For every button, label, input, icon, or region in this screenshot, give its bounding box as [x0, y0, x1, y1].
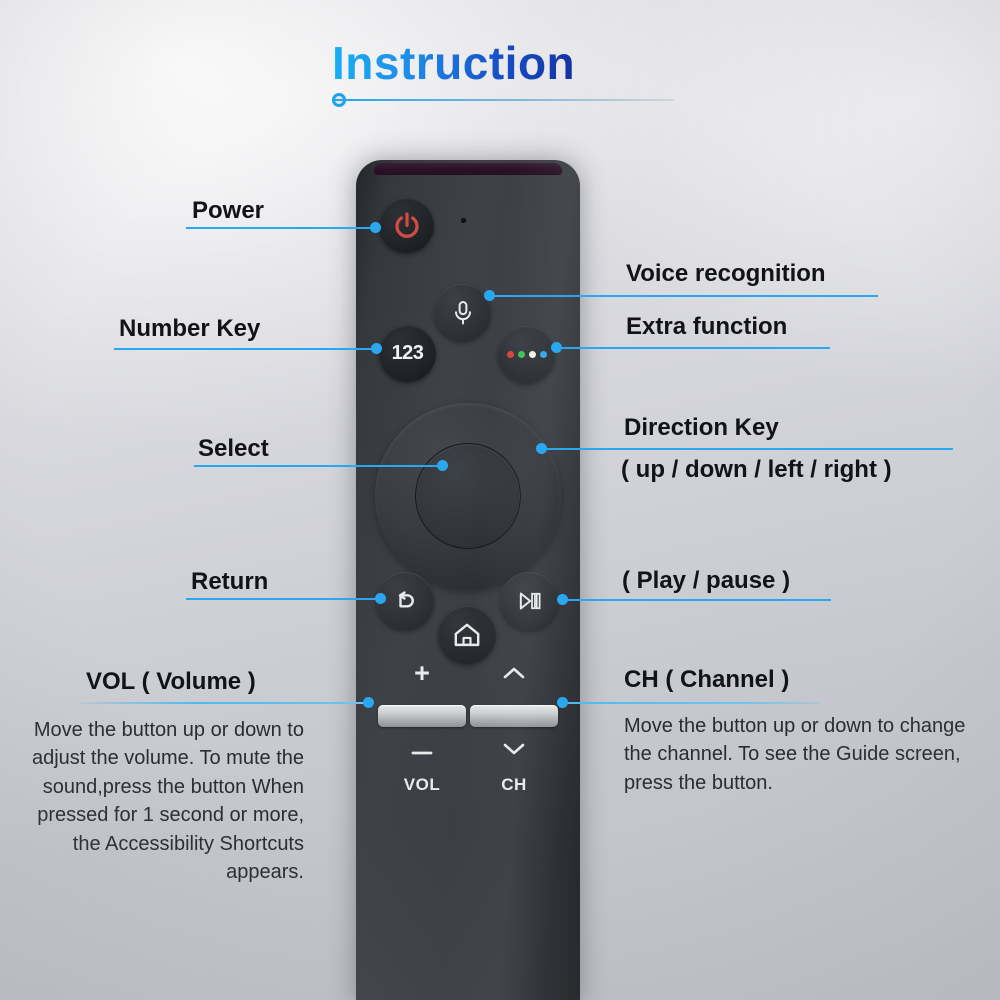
color-dots-icon	[507, 351, 547, 358]
callout-extra-function-dot	[551, 342, 562, 353]
power-icon	[392, 211, 422, 241]
channel-section-rule	[562, 702, 820, 704]
page-title: Instruction	[332, 36, 575, 90]
status-led-icon	[461, 218, 466, 223]
callout-extra-function-leader	[556, 347, 830, 349]
microphone-icon	[449, 299, 477, 327]
select-button[interactable]	[415, 443, 521, 549]
play-pause-icon	[515, 587, 543, 615]
volume-section-rule	[80, 702, 370, 704]
ir-window	[374, 163, 562, 175]
callout-select-leader	[194, 465, 444, 467]
callout-play-pause-dot	[557, 594, 568, 605]
callout-play-pause-label: ( Play / pause )	[622, 567, 790, 595]
callout-number-key-dot	[371, 343, 382, 354]
channel-up-glyph	[494, 660, 534, 688]
callout-extra-function-label: Extra function	[626, 313, 787, 341]
callout-voice-dot	[484, 290, 495, 301]
channel-section-body: Move the button up or down to change the…	[624, 712, 972, 797]
number-key-button[interactable]: 123	[379, 325, 436, 382]
volume-down-glyph	[402, 734, 442, 765]
channel-section-heading: CH ( Channel )	[624, 666, 789, 694]
callout-play-pause-leader	[562, 599, 831, 601]
number-key-label: 123	[392, 342, 424, 365]
callout-return-leader	[186, 598, 381, 600]
callout-direction-key-label: Direction Key	[624, 414, 779, 442]
callout-number-key-label: Number Key	[119, 315, 260, 343]
callout-return-dot	[375, 593, 386, 604]
volume-up-glyph: +	[402, 658, 442, 689]
callout-direction-key-leader	[541, 448, 953, 450]
power-button[interactable]	[379, 198, 434, 253]
return-arrow-icon	[390, 586, 420, 616]
volume-rocker-label: VOL	[396, 775, 448, 795]
volume-rocker[interactable]	[378, 705, 466, 727]
callout-return-label: Return	[191, 568, 268, 596]
callout-power-leader	[186, 227, 376, 229]
home-icon	[451, 619, 483, 651]
play-pause-button[interactable]	[500, 572, 558, 630]
voice-recognition-button[interactable]	[434, 284, 491, 341]
callout-power-dot	[370, 222, 381, 233]
volume-rocker-dot	[363, 697, 374, 708]
callout-select-label: Select	[198, 435, 269, 463]
instruction-graphic: Instruction 123	[0, 0, 1000, 1000]
callout-voice-leader	[489, 295, 878, 297]
channel-rocker-label: CH	[488, 775, 540, 795]
volume-section-body: Move the button up or down to adjust the…	[8, 716, 304, 886]
callout-select-dot	[437, 460, 448, 471]
callout-number-key-leader	[114, 348, 377, 350]
extra-function-button[interactable]	[498, 326, 555, 383]
title-divider	[334, 99, 674, 101]
channel-down-glyph	[494, 736, 534, 764]
channel-rocker-dot	[557, 697, 568, 708]
callout-voice-label: Voice recognition	[626, 260, 826, 288]
callout-direction-key-sub: ( up / down / left / right )	[621, 456, 892, 484]
callout-direction-key-dot	[536, 443, 547, 454]
remote-control-body: 123	[356, 160, 580, 1000]
volume-section-heading: VOL ( Volume )	[86, 668, 256, 696]
callout-power-label: Power	[192, 197, 264, 225]
direction-pad[interactable]	[375, 403, 561, 589]
home-button[interactable]	[438, 606, 496, 664]
channel-rocker[interactable]	[470, 705, 558, 727]
